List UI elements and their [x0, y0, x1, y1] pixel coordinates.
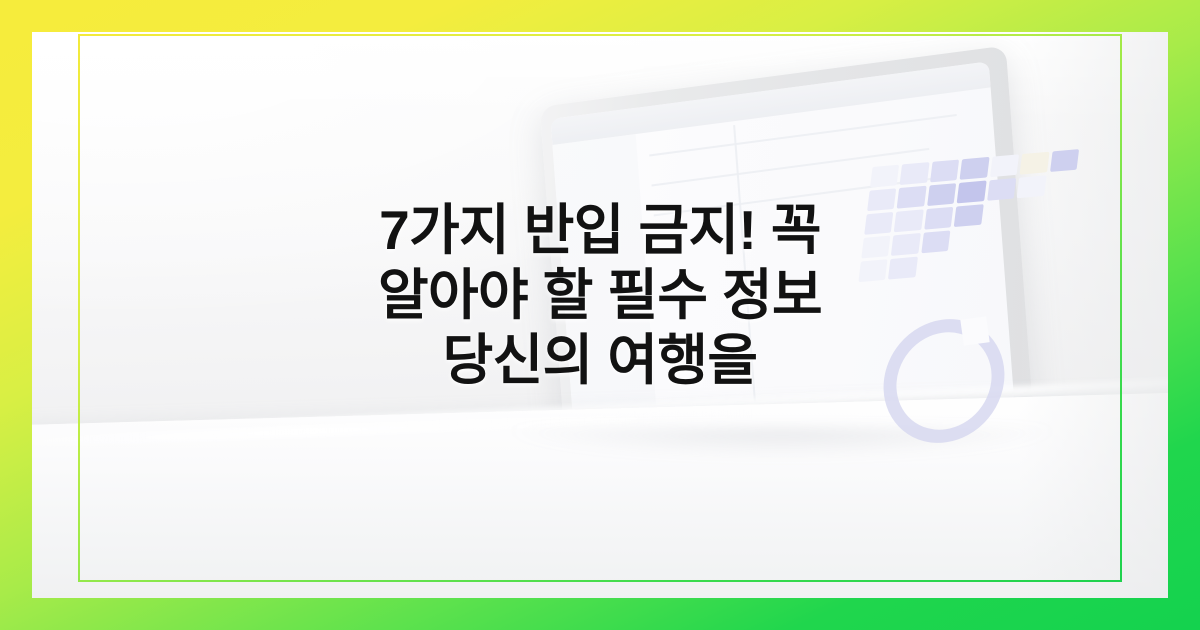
grid-cell	[1017, 175, 1046, 198]
grid-cell	[1050, 149, 1079, 172]
grid-cell	[1020, 152, 1049, 175]
headline-line-1: 7가지 반입 금지! 꼭	[120, 198, 1080, 263]
laptop-desk-shadow	[472, 428, 1092, 468]
grid-cell	[930, 159, 959, 182]
headline-line-2: 알아야 할 필수 정보	[120, 263, 1080, 328]
headline-text: 7가지 반입 금지! 꼭 알아야 할 필수 정보 당신의 여행을	[0, 198, 1200, 393]
grid-cell	[900, 162, 929, 185]
banner-card: 7가지 반입 금지! 꼭 알아야 할 필수 정보 당신의 여행을	[0, 0, 1200, 630]
grid-cell	[870, 165, 899, 188]
grid-cell	[1047, 173, 1076, 196]
grid-cell	[960, 157, 989, 180]
headline-line-3: 당신의 여행을	[120, 328, 1080, 393]
grid-cell	[990, 154, 1019, 177]
